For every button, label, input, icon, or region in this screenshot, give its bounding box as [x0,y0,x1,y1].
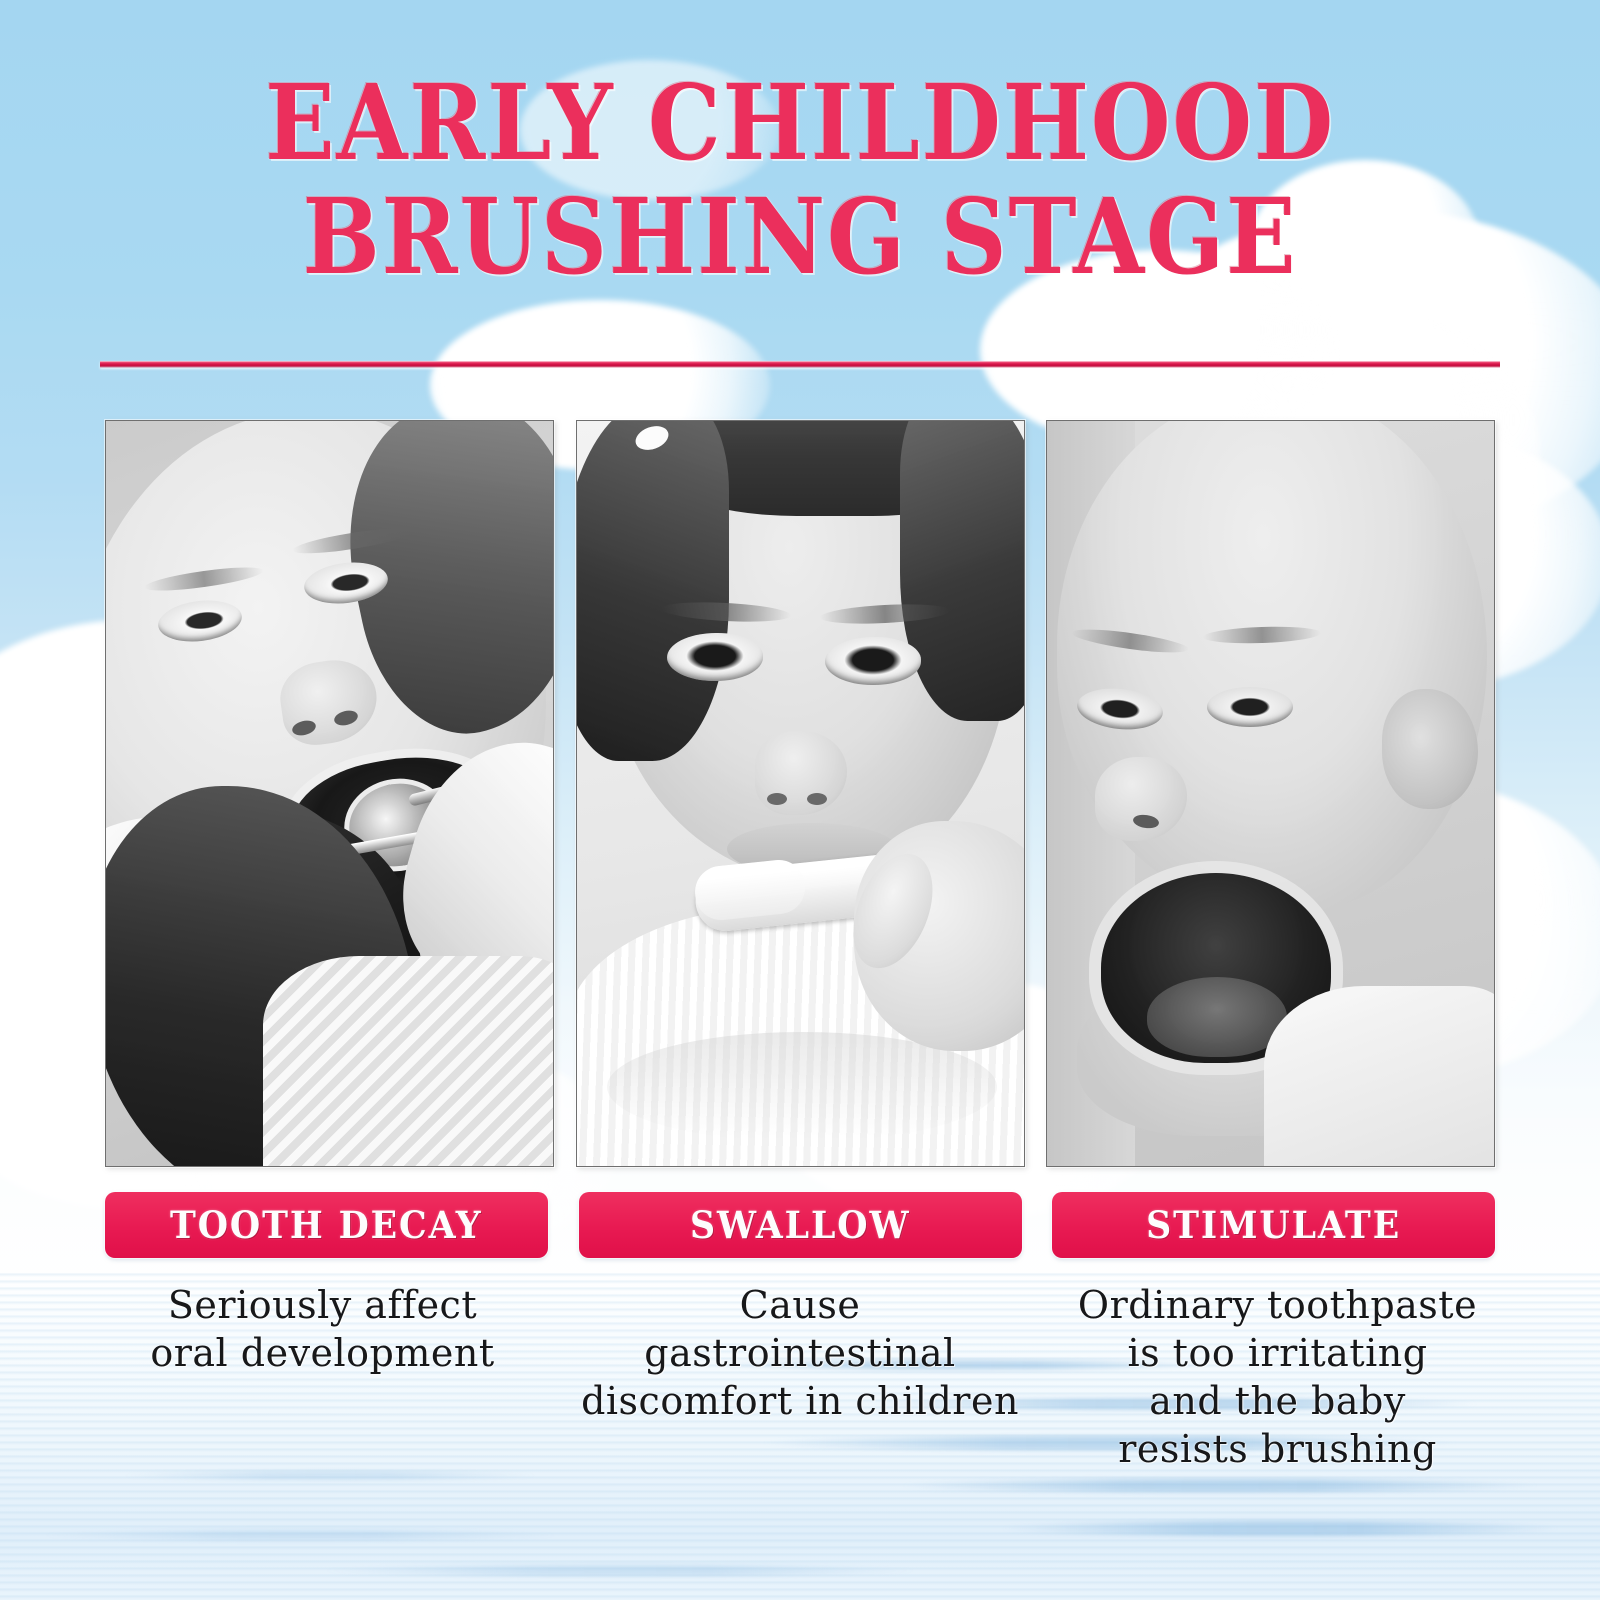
caption-line: oral development [95,1330,550,1378]
caption-tooth-decay: Seriously affect oral development [95,1282,550,1378]
caption-line: Seriously affect [95,1282,550,1330]
child-hair [576,420,729,761]
caption-line: Ordinary toothpaste [1050,1282,1505,1330]
caption-line: and the baby [1050,1378,1505,1426]
photo-tooth-decay [105,420,554,1167]
page-title: EARLY CHILDHOOD BRUSHING STAGE [0,70,1600,290]
ear [1382,689,1478,809]
shoulder-fabric [263,956,554,1167]
nostril [807,793,827,805]
caption-line: discomfort in children [573,1378,1028,1426]
water-streak [40,1530,560,1540]
badge-label: SWALLOW [690,1203,910,1247]
caption-row: Seriously affect oral development Cause … [95,1282,1505,1474]
nostril [767,793,787,805]
badge-label: STIMULATE [1146,1203,1401,1247]
photo-stimulate [1046,420,1495,1167]
badge-tooth-decay[interactable]: TOOTH DECAY [105,1192,548,1258]
photo-row [105,420,1495,1165]
title-line-2: BRUSHING STAGE [96,184,1504,290]
badge-row: TOOTH DECAY SWALLOW STIMULATE [105,1192,1495,1258]
caption-line: gastrointestinal [573,1330,1028,1378]
title-divider-rule [100,361,1500,368]
eye [667,633,763,681]
caption-line: resists brushing [1050,1426,1505,1474]
badge-stimulate[interactable]: STIMULATE [1052,1192,1495,1258]
caption-swallow: Cause gastrointestinal discomfort in chi… [573,1282,1028,1426]
title-line-1: EARLY CHILDHOOD [96,70,1504,176]
caption-stimulate: Ordinary toothpaste is too irritating an… [1050,1282,1505,1474]
clothing-fabric [1264,986,1495,1167]
eye [825,637,921,685]
eye [1207,687,1293,727]
photo-swallow [576,420,1025,1167]
caption-line: Cause [573,1282,1028,1330]
caption-line: is too irritating [1050,1330,1505,1378]
badge-swallow[interactable]: SWALLOW [579,1192,1022,1258]
poster-canvas: EARLY CHILDHOOD BRUSHING STAGE [0,0,1600,1600]
water-streak [1000,1521,1560,1536]
badge-label: TOOTH DECAY [170,1203,482,1247]
water-streak [900,1479,1540,1492]
water-streak [320,1565,920,1576]
child-hair [900,420,1025,721]
tongue [1147,977,1287,1057]
